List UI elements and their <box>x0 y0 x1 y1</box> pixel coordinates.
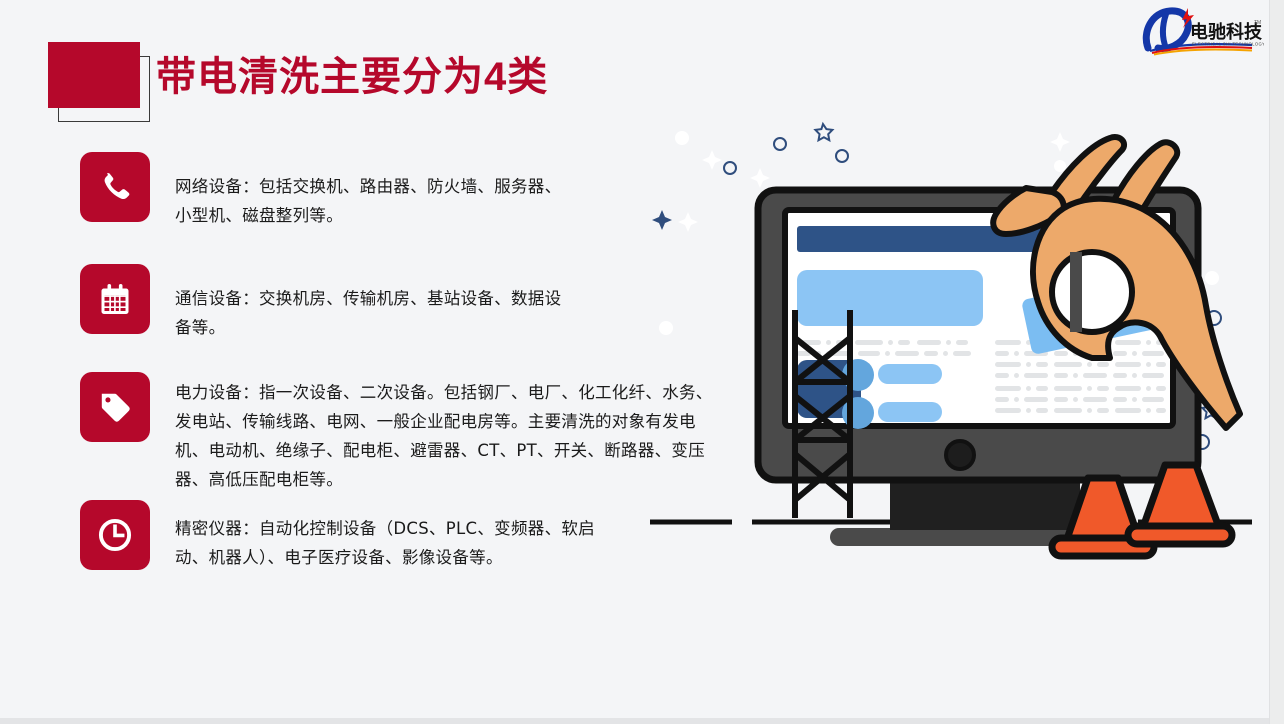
title-square-fill <box>48 42 140 108</box>
logo-english-name: ELECTRICAL CHI TECHNOLOGY <box>1192 42 1264 47</box>
bottom-edge-strip <box>0 718 1272 724</box>
logo-trademark: TM <box>1254 20 1261 26</box>
page-title-block: 带电清洗主要分为4类 <box>48 28 668 128</box>
logo-chinese-name: 电驰科技 <box>1190 21 1263 43</box>
clock-icon <box>80 500 150 570</box>
slide-canvas: 带电清洗主要分为4类 电驰科技 ELECTRICAL CHI TECHNOLOG… <box>0 0 1284 724</box>
list-item: 精密仪器：自动化控制设备（DCS、PLC、变频器、软启动、机器人）、电子医疗设备… <box>80 500 595 572</box>
list-item: 通信设备：交换机房、传输机房、基站设备、数据设备等。 <box>80 264 575 342</box>
list-item-text: 通信设备：交换机房、传输机房、基站设备、数据设备等。 <box>175 264 575 342</box>
list-item: 网络设备：包括交换机、路由器、防火墙、服务器、小型机、磁盘整列等。 <box>80 152 575 230</box>
monitor-hand-illustration <box>640 110 1280 590</box>
list-item-text: 网络设备：包括交换机、路由器、防火墙、服务器、小型机、磁盘整列等。 <box>175 152 575 230</box>
list-item-text: 精密仪器：自动化控制设备（DCS、PLC、变频器、软启动、机器人）、电子医疗设备… <box>175 500 595 572</box>
tag-icon <box>80 372 150 442</box>
phone-icon <box>80 152 150 222</box>
calendar-icon <box>80 264 150 334</box>
list-item: 电力设备：指一次设备、二次设备。包括钢厂、电厂、化工化纤、水务、发电站、传输线路… <box>80 372 723 494</box>
page-title: 带电清洗主要分为4类 <box>156 46 548 108</box>
right-edge-strip <box>1269 0 1284 724</box>
company-logo: 电驰科技 ELECTRICAL CHI TECHNOLOGY TM <box>1140 4 1264 56</box>
decor-sparkles <box>724 138 848 174</box>
